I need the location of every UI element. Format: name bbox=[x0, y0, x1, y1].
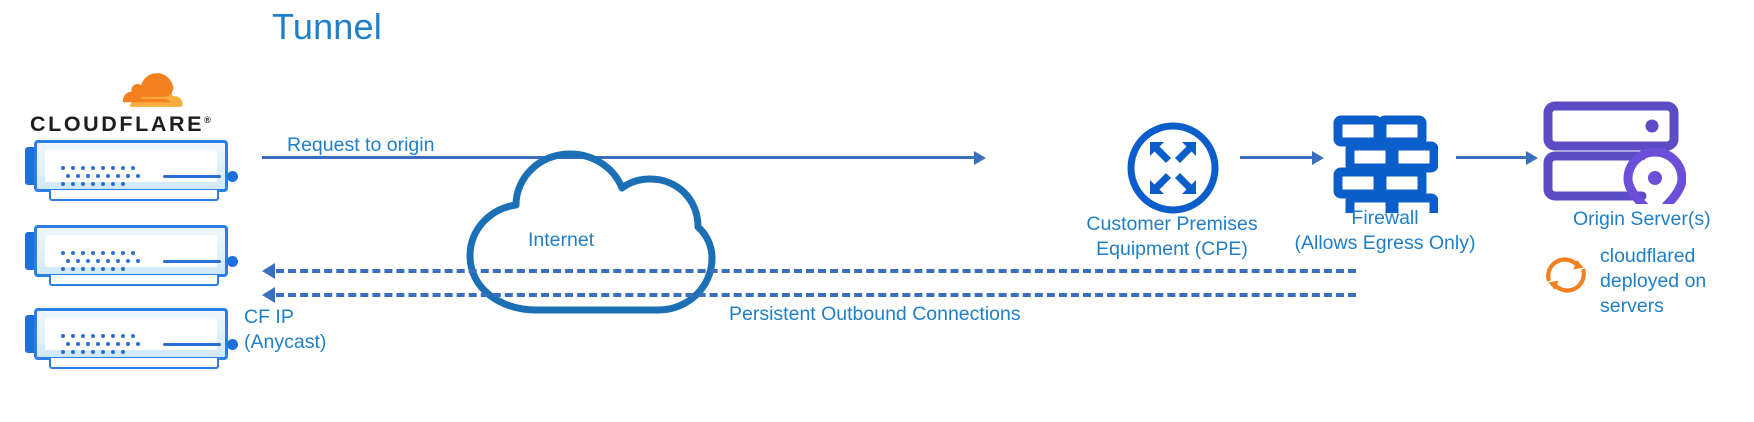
rack-body bbox=[34, 225, 228, 277]
rack-base bbox=[49, 190, 219, 201]
request-to-origin-label: Request to origin bbox=[287, 133, 434, 158]
rack-vents bbox=[61, 166, 139, 188]
server-stack-pin-icon bbox=[1542, 100, 1686, 204]
rack-vents bbox=[61, 334, 139, 356]
rack-face bbox=[45, 318, 217, 350]
rack-led bbox=[227, 339, 238, 350]
persistent-outbound-connections-label: Persistent Outbound Connections bbox=[729, 302, 1021, 327]
request-arrow-head-icon bbox=[974, 151, 986, 165]
rack-body bbox=[34, 308, 228, 360]
brick-wall-icon bbox=[1332, 113, 1438, 213]
rack-slot bbox=[163, 343, 221, 346]
trademark-mark: ® bbox=[204, 115, 213, 125]
sync-circular-arrows-icon bbox=[1542, 254, 1590, 296]
tunnel-dashed-line bbox=[276, 269, 1356, 273]
tunnel-dashed-line bbox=[276, 293, 1356, 297]
rack-slot bbox=[163, 175, 221, 178]
cpe-to-firewall-line bbox=[1240, 156, 1312, 159]
rack-face bbox=[45, 235, 217, 267]
rack-led bbox=[227, 256, 238, 267]
server-rack-icon bbox=[25, 225, 228, 287]
page-title: Tunnel bbox=[272, 6, 382, 48]
rack-slot bbox=[163, 260, 221, 263]
rack-led bbox=[227, 171, 238, 182]
firewall-label: Firewall (Allows Egress Only) bbox=[1140, 206, 1630, 256]
four-arrows-circle-icon bbox=[1126, 121, 1220, 215]
server-rack-icon bbox=[25, 140, 228, 202]
tunnel-arrow-head-icon bbox=[262, 287, 275, 303]
origin-server-label: Origin Server(s) bbox=[1573, 207, 1711, 232]
firewall-to-origin-line bbox=[1456, 156, 1526, 159]
cloudflared-label: cloudflared deployed on servers bbox=[1600, 244, 1706, 319]
cloudflare-cloud-icon bbox=[116, 70, 192, 110]
cf-ip-label: CF IP (Anycast) bbox=[244, 305, 326, 355]
internet-label: Internet bbox=[528, 228, 594, 253]
cpe-to-firewall-arrow-head-icon bbox=[1312, 151, 1324, 165]
rack-face bbox=[45, 150, 217, 182]
rack-vents bbox=[61, 251, 139, 273]
firewall-to-origin-arrow-head-icon bbox=[1526, 151, 1538, 165]
diagram-canvas: Tunnel CLOUDFLARE® bbox=[0, 0, 1754, 422]
cloudflare-wordmark: CLOUDFLARE® bbox=[30, 112, 226, 137]
cloudflare-logo: CLOUDFLARE® bbox=[30, 70, 226, 148]
server-rack-icon bbox=[25, 308, 228, 370]
rack-body bbox=[34, 140, 228, 192]
rack-base bbox=[49, 275, 219, 286]
tunnel-arrow-head-icon bbox=[262, 263, 275, 279]
rack-base bbox=[49, 358, 219, 369]
